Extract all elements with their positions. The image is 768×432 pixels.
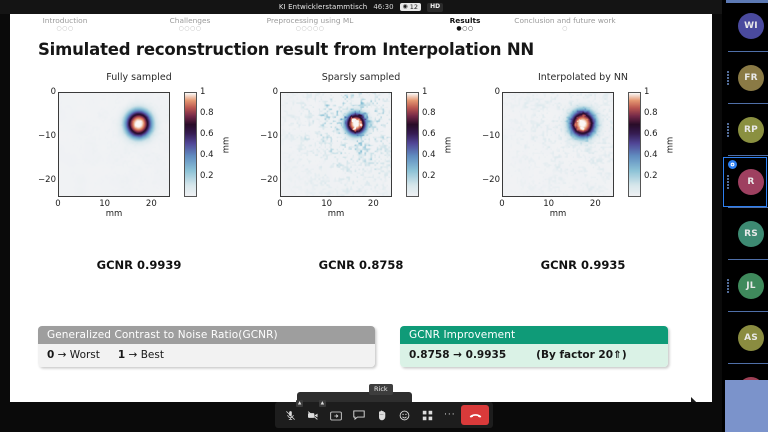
camera-off-icon <box>307 406 319 425</box>
y-axis-tick: 0 <box>495 87 500 97</box>
nav-section-introduction[interactable]: Introduction○○○ <box>43 16 88 32</box>
hangup-button[interactable] <box>461 405 489 425</box>
colorbar-tick: 0.4 <box>644 150 658 160</box>
x-axis-tick: 0 <box>499 199 504 209</box>
mic-level-indicator <box>726 71 729 85</box>
figure-panels: Fully sampled0−10−2001020mm10.80.60.40.2… <box>28 72 696 292</box>
phone-hangup-icon <box>469 406 482 425</box>
participant-tile[interactable]: JL <box>722 260 768 312</box>
plot-area: 0−10−2001020mm <box>502 92 614 197</box>
colorbar-tick: 0.8 <box>422 108 436 118</box>
nav-section-dots: ○○○○ <box>170 26 211 32</box>
colorbar-area: 10.80.60.40.2mm <box>406 92 419 197</box>
nav-section-label: Preprocessing using ML <box>267 16 354 25</box>
gcnr-best-label: Best <box>141 349 164 361</box>
reactions-button[interactable] <box>393 405 416 425</box>
more-options-icon: ··· <box>444 410 456 420</box>
chat-button[interactable] <box>347 405 370 425</box>
nav-section-challenges[interactable]: Challenges○○○○ <box>170 16 211 32</box>
gcnr-improvement-from: 0.8758 <box>409 349 450 361</box>
eye-icon: ◉ <box>403 4 408 10</box>
nav-section-label: Conclusion and future work <box>514 16 615 25</box>
participant-count-badge[interactable]: ◉ 12 <box>400 3 422 12</box>
slide-title: Simulated reconstruction result from Int… <box>38 40 534 59</box>
figure-panel-3: Interpolated by NN0−10−2001020mm10.80.60… <box>472 72 694 292</box>
panel-title: Interpolated by NN <box>472 72 694 83</box>
nav-section-label: Results <box>450 16 481 25</box>
colorbar-tick: 0.2 <box>644 171 658 181</box>
colorbar-tick: 1 <box>422 87 427 97</box>
nav-section-dots: ○○○○○ <box>267 26 354 32</box>
participant-video-tile[interactable] <box>725 380 768 432</box>
gcnr-improvement-arrow: → <box>450 349 466 361</box>
colorbar-unit-label: mm <box>221 136 231 153</box>
x-axis-label: mm <box>58 209 170 219</box>
mic-level-indicator <box>726 123 729 137</box>
mic-muted-button[interactable]: ▲ <box>279 405 302 425</box>
colorbar <box>184 92 197 197</box>
participant-tile[interactable]: AS <box>722 312 768 364</box>
ultrasound-heatmap <box>58 92 170 197</box>
avatar[interactable]: R <box>738 169 764 195</box>
figure-panel-2: Sparsly sampled0−10−2001020mm10.80.60.40… <box>250 72 472 292</box>
avatar-initials: R <box>747 177 754 187</box>
gcnr-improvement-to: 0.9935 <box>466 349 507 361</box>
avatar[interactable]: RS <box>738 221 764 247</box>
x-axis-tick: 20 <box>146 199 157 209</box>
colorbar-tick: 0.4 <box>200 150 214 160</box>
y-axis-tick: −20 <box>482 175 500 185</box>
nav-section-dots: ○ <box>514 26 615 32</box>
chat-icon <box>353 406 365 425</box>
participant-tile[interactable]: WI <box>722 0 768 52</box>
panel-title: Fully sampled <box>28 72 250 83</box>
meeting-status-bar: KI Entwicklerstammtisch 46:30 ◉ 12 HD <box>0 0 722 14</box>
colorbar-tick: 0.6 <box>422 129 436 139</box>
colorbar-unit-label: mm <box>443 136 453 153</box>
ultrasound-heatmap <box>502 92 614 197</box>
colorbar <box>406 92 419 197</box>
share-screen-button[interactable] <box>325 405 348 425</box>
avatar[interactable]: WI <box>738 13 764 39</box>
mic-muted-icon <box>285 406 296 425</box>
avatar-initials: FR <box>744 73 757 83</box>
mouse-cursor-icon <box>691 397 698 402</box>
colorbar-tick: 1 <box>200 87 205 97</box>
gcnr-best-arrow: → <box>125 349 140 361</box>
plot-area: 0−10−2001020mm <box>280 92 392 197</box>
figure-panel-1: Fully sampled0−10−2001020mm10.80.60.40.2… <box>28 72 250 292</box>
gcnr-worst-label: Worst <box>70 349 100 361</box>
participant-rail[interactable]: WIFRRPRRSJLASLK <box>722 0 768 432</box>
grid-view-button[interactable] <box>416 405 439 425</box>
colorbar-area: 10.80.60.40.2mm <box>184 92 197 197</box>
colorbar-tick: 0.6 <box>644 129 658 139</box>
x-axis-tick: 10 <box>99 199 110 209</box>
slide-section-nav: Introduction○○○Challenges○○○○Preprocessi… <box>10 14 712 38</box>
quality-badge: HD <box>427 3 443 12</box>
more-options-button[interactable]: ··· <box>438 405 461 425</box>
y-axis-tick: −10 <box>482 131 500 141</box>
avatar-initials: RS <box>744 229 758 239</box>
avatar[interactable]: RP <box>738 117 764 143</box>
share-screen-icon <box>330 406 342 425</box>
gcnr-improvement-factor: (By factor 20⇑) <box>536 349 626 361</box>
colorbar-tick: 0.2 <box>422 171 436 181</box>
x-axis-tick: 20 <box>590 199 601 209</box>
presentation-slide: Introduction○○○Challenges○○○○Preprocessi… <box>10 14 712 402</box>
gcnr-definition-block: Generalized Contrast to Noise Ratio(GCNR… <box>38 326 375 367</box>
x-axis-tick: 10 <box>321 199 332 209</box>
raise-hand-button[interactable] <box>370 405 393 425</box>
meeting-elapsed-time: 46:30 <box>373 3 393 11</box>
nav-section-preprocessing-using-ml[interactable]: Preprocessing using ML○○○○○ <box>267 16 354 32</box>
nav-section-label: Introduction <box>43 16 88 25</box>
screen: KI Entwicklerstammtisch 46:30 ◉ 12 HD In… <box>0 0 768 432</box>
colorbar-tick: 0.4 <box>422 150 436 160</box>
y-axis-tick: 0 <box>51 87 56 97</box>
participant-count: 12 <box>410 4 418 11</box>
y-axis-tick: 0 <box>273 87 278 97</box>
x-axis-tick: 10 <box>543 199 554 209</box>
raise-hand-icon <box>377 406 387 425</box>
panel-gcnr-value: GCNR 0.8758 <box>250 258 472 272</box>
avatar-initials: JL <box>746 281 755 291</box>
gcnr-definition-body: 0 → Worst1 → Best <box>38 344 375 367</box>
reactions-icon <box>399 406 410 425</box>
panel-title: Sparsly sampled <box>250 72 472 83</box>
gcnr-definition-header: Generalized Contrast to Noise Ratio(GCNR… <box>38 326 375 344</box>
avatar-initials: AS <box>744 333 758 343</box>
nav-section-results[interactable]: Results●○○ <box>450 16 481 32</box>
colorbar-tick: 0.8 <box>200 108 214 118</box>
y-axis-tick: −20 <box>260 175 278 185</box>
colorbar-tick: 0.6 <box>200 129 214 139</box>
mic-level-indicator <box>726 175 729 189</box>
meeting-title: KI Entwicklerstammtisch <box>279 3 367 11</box>
nav-section-dots: ○○○ <box>43 26 88 32</box>
x-axis-label: mm <box>502 209 614 219</box>
camera-off-button[interactable]: ▲ <box>302 405 325 425</box>
plot-area: 0−10−2001020mm <box>58 92 170 197</box>
mic-level-indicator <box>726 279 729 293</box>
avatar-initials: WI <box>744 21 758 31</box>
panel-gcnr-value: GCNR 0.9935 <box>472 258 694 272</box>
colorbar-tick: 0.2 <box>200 171 214 181</box>
avatar[interactable]: FR <box>738 65 764 91</box>
colorbar <box>628 92 641 197</box>
colorbar-tick: 1 <box>644 87 649 97</box>
nav-section-label: Challenges <box>170 16 211 25</box>
x-axis-tick: 20 <box>368 199 379 209</box>
participant-tile[interactable]: RP <box>722 104 768 156</box>
nav-section-conclusion-and-future-work[interactable]: Conclusion and future work○ <box>514 16 615 32</box>
colorbar-unit-label: mm <box>665 136 675 153</box>
y-axis-tick: −10 <box>260 131 278 141</box>
y-axis-tick: −20 <box>38 175 56 185</box>
gcnr-worst-arrow: → <box>54 349 69 361</box>
y-axis-tick: −10 <box>38 131 56 141</box>
panel-gcnr-value: GCNR 0.9939 <box>28 258 250 272</box>
nav-section-dots: ●○○ <box>450 26 481 32</box>
participant-tile[interactable]: R <box>722 156 768 208</box>
avatar[interactable]: JL <box>738 273 764 299</box>
pin-icon[interactable] <box>728 160 737 169</box>
avatar[interactable]: AS <box>738 325 764 351</box>
x-axis-tick: 0 <box>55 199 60 209</box>
participant-tile[interactable]: RS <box>722 208 768 260</box>
call-control-bar: ▲▲··· <box>275 402 493 428</box>
grid-view-icon <box>422 406 433 425</box>
gcnr-improvement-body: 0.8758 → 0.9935(By factor 20⇑) <box>400 344 668 367</box>
x-axis-label: mm <box>280 209 392 219</box>
colorbar-tick: 0.8 <box>644 108 658 118</box>
avatar-initials: RP <box>744 125 758 135</box>
gcnr-improvement-header: GCNR Improvement <box>400 326 668 344</box>
gcnr-improvement-block: GCNR Improvement 0.8758 → 0.9935(By fact… <box>400 326 668 367</box>
participant-tile[interactable]: FR <box>722 52 768 104</box>
colorbar-area: 10.80.60.40.2mm <box>628 92 641 197</box>
ultrasound-heatmap <box>280 92 392 197</box>
x-axis-tick: 0 <box>277 199 282 209</box>
self-view-name-label: Rick <box>369 384 393 395</box>
